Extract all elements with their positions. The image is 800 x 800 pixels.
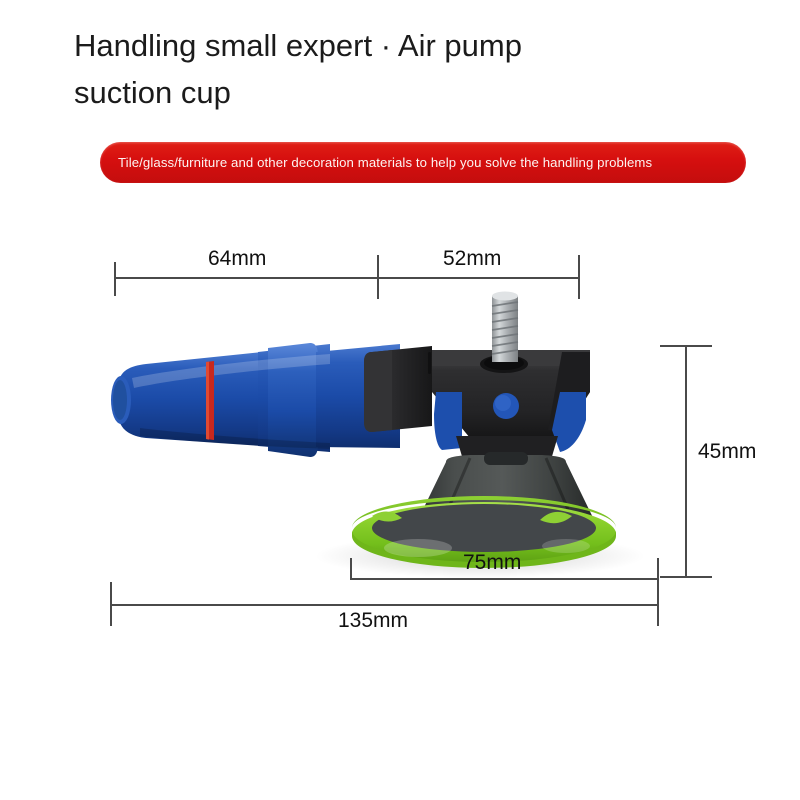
dim-tick-75-left — [350, 558, 352, 580]
dim-tick-mid — [377, 255, 379, 299]
dim-label-135mm: 135mm — [338, 609, 408, 633]
dim-line-135 — [110, 604, 658, 606]
dim-tick-135-left — [110, 582, 112, 626]
threaded-bolt — [492, 292, 518, 363]
dim-line-height — [685, 345, 687, 577]
dim-label-52mm: 52mm — [443, 247, 501, 271]
dim-tick-135-right — [657, 578, 659, 626]
dim-label-75mm: 75mm — [463, 551, 521, 575]
dim-tick-right — [578, 255, 580, 299]
dim-line-75 — [350, 578, 658, 580]
dim-tick-bottom — [660, 576, 712, 578]
dim-label-64mm: 64mm — [208, 247, 266, 271]
dim-tick-left — [114, 262, 116, 296]
pump-handle — [111, 343, 400, 457]
product-image — [0, 0, 800, 800]
dim-line-top — [114, 277, 578, 279]
dim-tick-75-right — [657, 558, 659, 580]
product-infographic: Handling small expert · Air pump suction… — [0, 0, 800, 800]
pivot-body — [364, 346, 590, 470]
dim-tick-top — [660, 345, 712, 347]
dim-label-45mm: 45mm — [698, 440, 756, 464]
